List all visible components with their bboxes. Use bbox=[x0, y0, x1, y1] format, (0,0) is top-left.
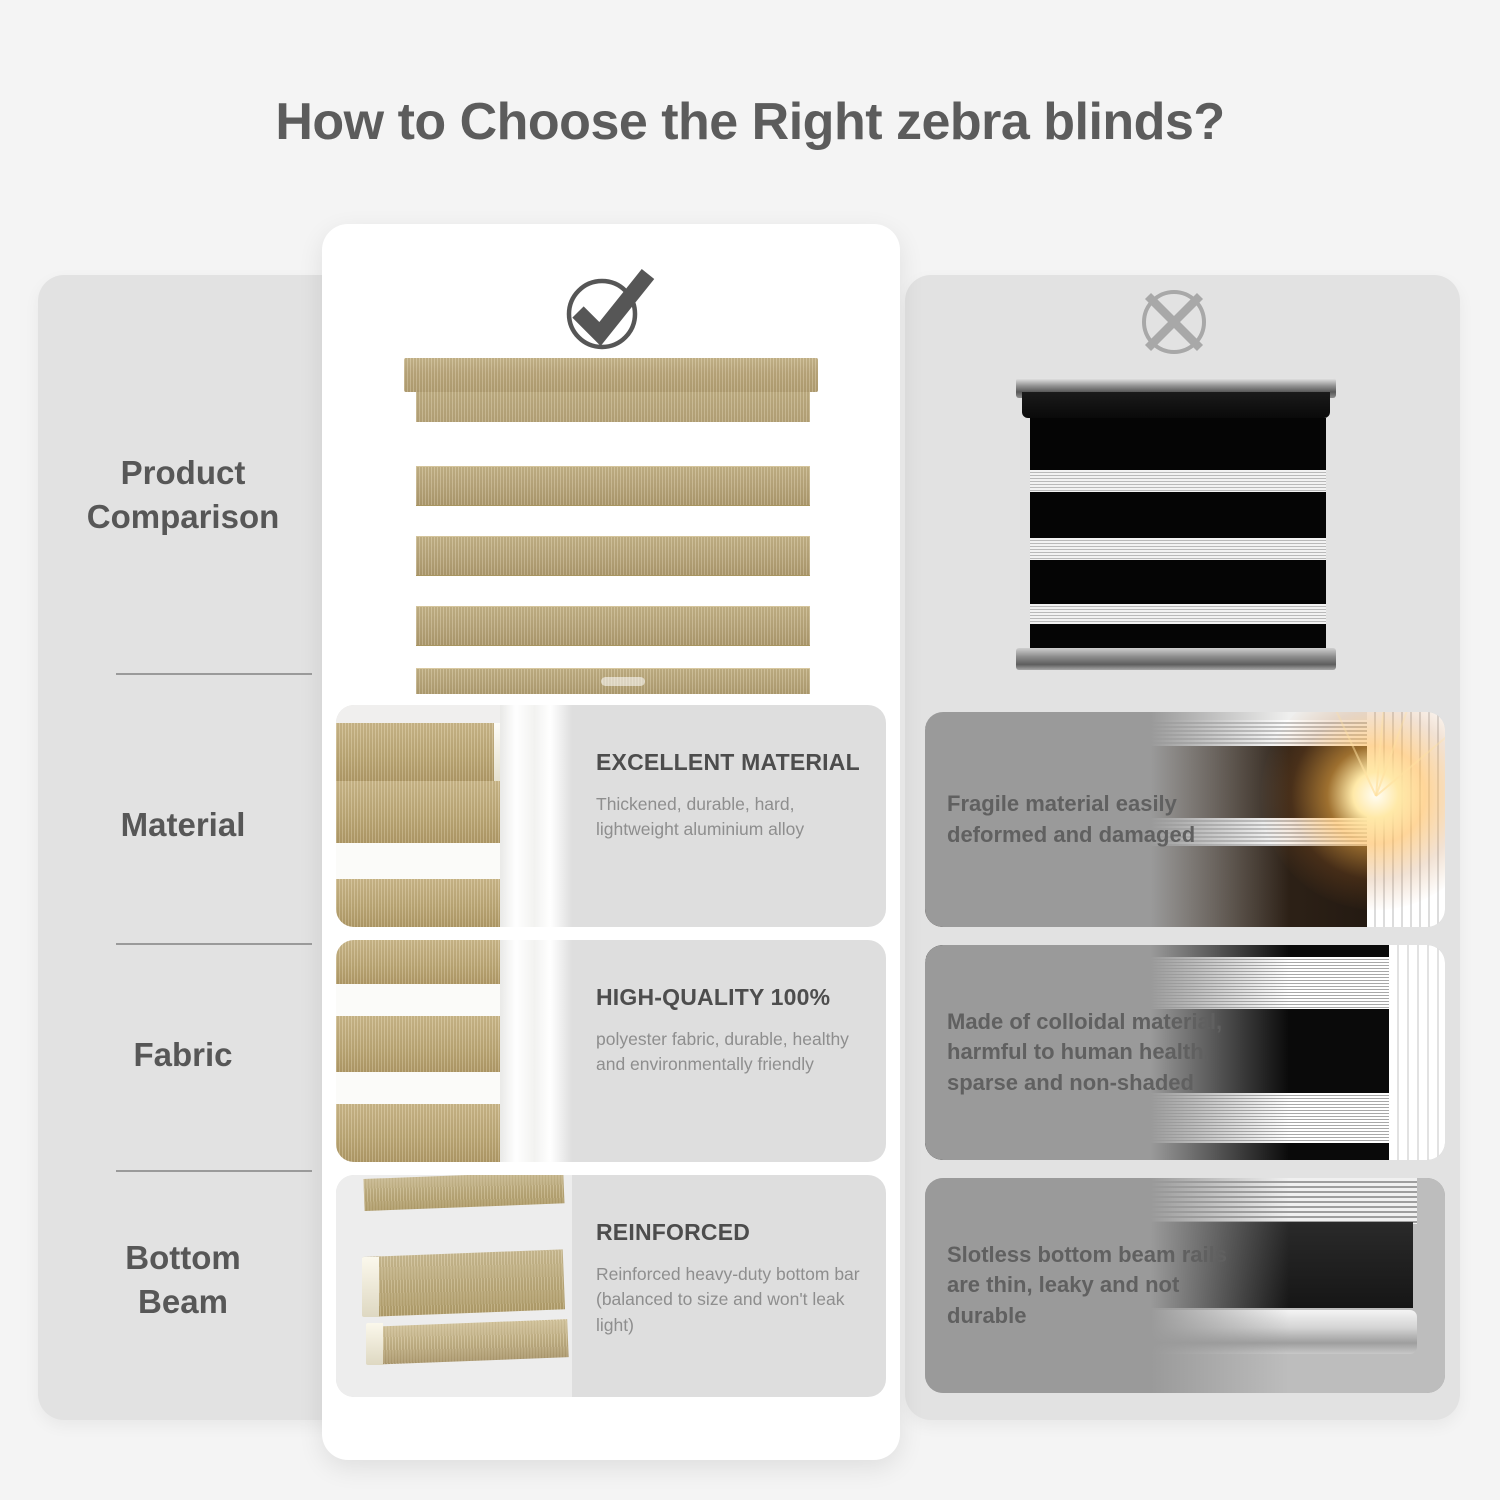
blind-slat bbox=[416, 466, 810, 506]
card-description: Thickened, durable, hard, lightweight al… bbox=[596, 792, 860, 843]
row-divider-1 bbox=[116, 673, 312, 675]
row-label-line2: Comparison bbox=[87, 498, 280, 535]
black-blind-opaque-band bbox=[1030, 624, 1326, 648]
card-description: Reinforced heavy-duty bottom bar (balanc… bbox=[596, 1262, 860, 1338]
card-heading: EXCELLENT MATERIAL bbox=[596, 749, 860, 776]
card-slotless-bottom-beam[interactable]: Slotless bottom beam rails are thin, lea… bbox=[925, 1178, 1445, 1393]
hero-image-black-blind bbox=[1016, 378, 1336, 670]
black-blind-opaque-band bbox=[1030, 418, 1326, 470]
hero-image-beige-blind bbox=[404, 358, 818, 694]
window-frame bbox=[1389, 945, 1445, 1160]
blind-slat bbox=[416, 606, 810, 646]
row-divider-3 bbox=[116, 1170, 312, 1172]
blind-bottom-bar bbox=[416, 668, 810, 694]
card-colloidal-material[interactable]: Made of colloidal material, harmful to h… bbox=[925, 945, 1445, 1160]
card-image-fabric bbox=[336, 940, 572, 1162]
card-description: Slotless bottom beam rails are thin, lea… bbox=[947, 1240, 1247, 1331]
black-blind-sheer-band bbox=[1030, 538, 1326, 560]
black-blind-sheer-band bbox=[1030, 470, 1326, 492]
blind-pull-handle bbox=[601, 677, 645, 686]
black-blind-bottom-rail bbox=[1016, 648, 1336, 670]
row-label-bottom-beam: Bottom Beam bbox=[38, 1225, 328, 1335]
window-frame bbox=[500, 705, 572, 927]
card-heading: HIGH-QUALITY 100% bbox=[596, 984, 860, 1011]
row-label-line1: Product bbox=[121, 454, 246, 491]
window-frame bbox=[500, 940, 572, 1162]
card-excellent-material[interactable]: EXCELLENT MATERIAL Thickened, durable, h… bbox=[336, 705, 886, 927]
row-label-column: Product Comparison Material Fabric Botto… bbox=[38, 275, 328, 1420]
card-high-quality-fabric[interactable]: HIGH-QUALITY 100% polyester fabric, dura… bbox=[336, 940, 886, 1162]
card-image-bottom-beam bbox=[336, 1175, 572, 1397]
card-description: Fragile material easily deformed and dam… bbox=[947, 789, 1247, 850]
black-blind-sheer-band bbox=[1030, 604, 1326, 624]
row-label-material: Material bbox=[38, 795, 328, 855]
blind-headrail-valance bbox=[416, 392, 810, 422]
row-label-product-comparison: Product Comparison bbox=[38, 440, 328, 550]
card-fragile-material[interactable]: Fragile material easily deformed and dam… bbox=[925, 712, 1445, 927]
row-label-fabric: Fabric bbox=[38, 1025, 328, 1085]
row-divider-2 bbox=[116, 943, 312, 945]
black-blind-roller bbox=[1022, 392, 1330, 418]
card-image-material bbox=[336, 705, 572, 927]
black-blind-opaque-band bbox=[1030, 492, 1326, 538]
reinforced-bottom-rail bbox=[367, 1319, 568, 1365]
blind-slat bbox=[416, 536, 810, 576]
card-reinforced-bottom-beam[interactable]: REINFORCED Reinforced heavy-duty bottom … bbox=[336, 1175, 886, 1397]
blind-headrail bbox=[404, 358, 818, 392]
card-description: Made of colloidal material, harmful to h… bbox=[947, 1007, 1247, 1098]
page-title: How to Choose the Right zebra blinds? bbox=[0, 92, 1500, 152]
card-description: polyester fabric, durable, healthy and e… bbox=[596, 1027, 860, 1078]
infographic-root: How to Choose the Right zebra blinds? Pr… bbox=[0, 0, 1500, 1500]
card-heading: REINFORCED bbox=[596, 1219, 860, 1246]
cross-circle-icon bbox=[1126, 283, 1222, 361]
check-circle-icon bbox=[556, 268, 668, 352]
black-blind-opaque-band bbox=[1030, 560, 1326, 604]
